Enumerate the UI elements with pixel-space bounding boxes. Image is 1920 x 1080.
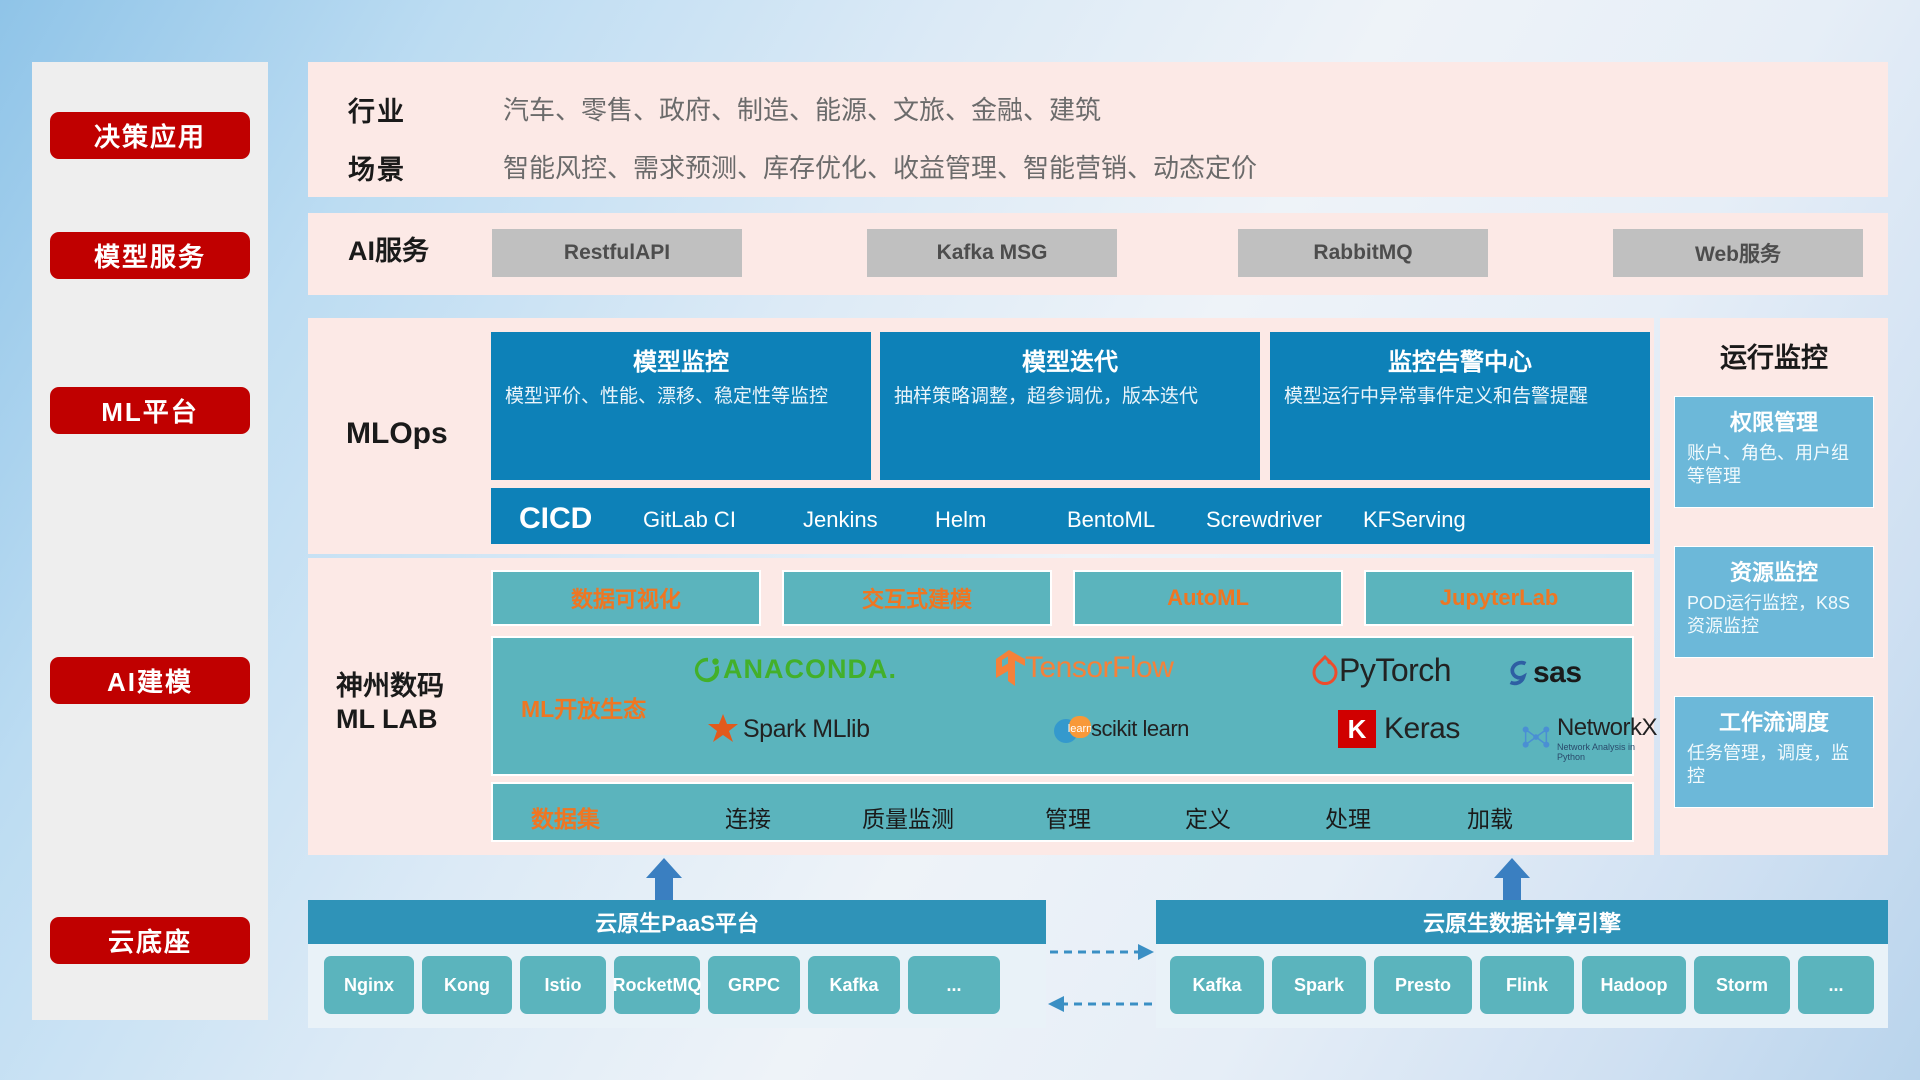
monitor-card-title: 资源监控 xyxy=(1687,555,1861,587)
ml-lab-label-line2: ML LAB xyxy=(336,704,438,734)
industry-key: 行业 xyxy=(348,90,406,129)
ml-lab-label-line1: 神州数码 xyxy=(336,671,444,701)
tensorflow-icon xyxy=(993,650,1025,686)
ai-modeling-band: 神州数码 ML LAB 数据可视化 交互式建模 AutoML JupyterLa… xyxy=(308,558,1654,855)
engine-chip-kafka[interactable]: Kafka xyxy=(1170,956,1264,1014)
mlops-card-title: 模型监控 xyxy=(505,342,857,377)
mlops-card-desc: 抽样策略调整，超参调优，版本迭代 xyxy=(894,384,1246,409)
networkx-logo: NetworkX Network Analysis in Python xyxy=(1520,714,1659,762)
monitor-card-title: 权限管理 xyxy=(1687,405,1861,437)
sas-logo: sas xyxy=(1503,656,1582,690)
scikit-learn-logo: learn scikit learn xyxy=(1053,712,1189,746)
pytorch-icon xyxy=(1311,655,1339,687)
industry-value: 汽车、零售、政府、制造、能源、文旅、金融、建筑 xyxy=(503,90,1101,127)
bidirectional-connector-icon xyxy=(1046,930,1156,1020)
ml-lab-label: 神州数码 ML LAB xyxy=(336,670,444,736)
data-engine-title: 云原生数据计算引擎 xyxy=(1156,900,1888,944)
cicd-item-kfserving[interactable]: KFServing xyxy=(1363,506,1481,534)
engine-chip-hadoop[interactable]: Hadoop xyxy=(1582,956,1686,1014)
tensorflow-wordmark: TensorFlow xyxy=(1025,651,1173,685)
cicd-strip: CICD GitLab CI Jenkins Helm BentoML Scre… xyxy=(491,488,1650,544)
paas-chip-kafka[interactable]: Kafka xyxy=(808,956,900,1014)
keras-logo: K Keras xyxy=(1338,710,1460,748)
cicd-item-bentoml[interactable]: BentoML xyxy=(1067,506,1185,534)
dataset-item-connect[interactable]: 连接 xyxy=(693,800,803,834)
cicd-item-jenkins[interactable]: Jenkins xyxy=(803,506,921,534)
networkx-subtitle: Network Analysis in Python xyxy=(1557,742,1659,762)
monitor-card-title: 工作流调度 xyxy=(1687,705,1861,737)
monitor-card-desc: 任务管理，调度，监控 xyxy=(1687,742,1861,789)
anaconda-logo: ANACONDA. xyxy=(693,654,897,685)
keras-wordmark: Keras xyxy=(1384,712,1460,746)
mlops-card-title: 模型迭代 xyxy=(894,342,1246,377)
mlops-card-title: 监控告警中心 xyxy=(1284,342,1636,377)
monitor-card-desc: POD运行监控，K8S资源监控 xyxy=(1687,592,1861,639)
ai-service-band: AI服务 RestfulAPI Kafka MSG RabbitMQ Web服务 xyxy=(308,213,1888,295)
rail-item-ml-platform[interactable]: ML平台 xyxy=(50,387,250,434)
service-chip-rabbitmq[interactable]: RabbitMQ xyxy=(1238,229,1488,277)
mlops-card-desc: 模型运行中异常事件定义和告警提醒 xyxy=(1284,384,1636,409)
mlops-card-model-monitoring[interactable]: 模型监控 模型评价、性能、漂移、稳定性等监控 xyxy=(491,332,871,480)
tensorflow-logo: TensorFlow xyxy=(993,650,1173,686)
spark-icon xyxy=(703,712,743,746)
tile-data-visualization[interactable]: 数据可视化 xyxy=(491,570,761,626)
engine-chip-presto[interactable]: Presto xyxy=(1374,956,1472,1014)
tile-automl[interactable]: AutoML xyxy=(1073,570,1343,626)
mlops-label: MLOps xyxy=(346,416,448,453)
ml-ecosystem-label: ML开放生态 xyxy=(521,690,646,724)
paas-chip-kong[interactable]: Kong xyxy=(422,956,512,1014)
paas-chip-more[interactable]: ... xyxy=(908,956,1000,1014)
dataset-item-quality-monitoring[interactable]: 质量监测 xyxy=(833,800,983,834)
ml-ecosystem-panel: ML开放生态 ANACONDA. TensorFlow xyxy=(491,636,1634,776)
rail-item-model-service[interactable]: 模型服务 xyxy=(50,232,250,279)
monitor-card-desc: 账户、角色、用户组等管理 xyxy=(1687,442,1861,489)
pytorch-wordmark: PyTorch xyxy=(1339,652,1451,689)
dataset-strip: 数据集 连接 质量监测 管理 定义 处理 加载 xyxy=(491,782,1634,842)
mlops-card-model-iteration[interactable]: 模型迭代 抽样策略调整，超参调优，版本迭代 xyxy=(880,332,1260,480)
cicd-item-helm[interactable]: Helm xyxy=(935,506,1053,534)
rail-item-ai-modeling[interactable]: AI建模 xyxy=(50,657,250,704)
paas-chip-istio[interactable]: Istio xyxy=(520,956,606,1014)
run-monitor-panel: 运行监控 权限管理 账户、角色、用户组等管理 资源监控 POD运行监控，K8S资… xyxy=(1660,318,1888,855)
mlops-card-desc: 模型评价、性能、漂移、稳定性等监控 xyxy=(505,384,857,409)
scenario-value: 智能风控、需求预测、库存优化、收益管理、智能营销、动态定价 xyxy=(503,148,1257,185)
run-monitor-title: 运行监控 xyxy=(1660,336,1888,375)
sas-wordmark: sas xyxy=(1533,656,1582,690)
paas-platform-group: 云原生PaaS平台 Nginx Kong Istio RocketMQ GRPC… xyxy=(308,900,1046,1028)
tile-interactive-modeling[interactable]: 交互式建模 xyxy=(782,570,1052,626)
monitor-card-permission[interactable]: 权限管理 账户、角色、用户组等管理 xyxy=(1674,396,1874,508)
tile-jupyterlab[interactable]: JupyterLab xyxy=(1364,570,1634,626)
spark-mllib-logo: Spark MLlib xyxy=(703,712,870,746)
keras-icon: K xyxy=(1338,710,1376,748)
cicd-item-screwdriver[interactable]: Screwdriver xyxy=(1206,506,1324,534)
monitor-card-resource[interactable]: 资源监控 POD运行监控，K8S资源监控 xyxy=(1674,546,1874,658)
anaconda-wordmark: ANACONDA. xyxy=(723,654,897,685)
scikit-learn-wordmark: scikit learn xyxy=(1091,716,1189,742)
cicd-item-gitlab-ci[interactable]: GitLab CI xyxy=(643,506,761,534)
engine-chip-more[interactable]: ... xyxy=(1798,956,1874,1014)
mlops-band: MLOps 模型监控 模型评价、性能、漂移、稳定性等监控 模型迭代 抽样策略调整… xyxy=(308,318,1654,554)
left-rail: 决策应用 模型服务 ML平台 AI建模 云底座 xyxy=(32,62,268,1020)
paas-chip-nginx[interactable]: Nginx xyxy=(324,956,414,1014)
paas-platform-title: 云原生PaaS平台 xyxy=(308,900,1046,944)
paas-chip-grpc[interactable]: GRPC xyxy=(708,956,800,1014)
pytorch-logo: PyTorch xyxy=(1311,652,1451,689)
dataset-item-management[interactable]: 管理 xyxy=(1013,800,1123,834)
service-chip-web-service[interactable]: Web服务 xyxy=(1613,229,1863,277)
spark-mllib-wordmark: Spark MLlib xyxy=(743,715,870,744)
engine-chip-spark[interactable]: Spark xyxy=(1272,956,1366,1014)
networkx-wordmark: NetworkX xyxy=(1557,714,1659,742)
paas-up-arrow-icon xyxy=(640,856,688,904)
networkx-icon xyxy=(1520,723,1552,753)
engine-chip-storm[interactable]: Storm xyxy=(1694,956,1790,1014)
anaconda-icon xyxy=(693,655,723,685)
dataset-label: 数据集 xyxy=(531,800,600,834)
data-engine-up-arrow-icon xyxy=(1488,856,1536,904)
cicd-title: CICD xyxy=(519,502,592,536)
dataset-item-definition[interactable]: 定义 xyxy=(1153,800,1263,834)
service-chip-kafka-msg[interactable]: Kafka MSG xyxy=(867,229,1117,277)
svg-text:learn: learn xyxy=(1068,723,1091,735)
paas-chip-rocketmq[interactable]: RocketMQ xyxy=(614,956,700,1014)
dataset-item-loading[interactable]: 加载 xyxy=(1435,800,1545,834)
sas-icon xyxy=(1503,658,1533,688)
decision-application-band: 行业 汽车、零售、政府、制造、能源、文旅、金融、建筑 场景 智能风控、需求预测、… xyxy=(308,62,1888,197)
scenario-key: 场景 xyxy=(348,148,406,187)
ai-service-label: AI服务 xyxy=(348,235,429,268)
monitor-card-workflow[interactable]: 工作流调度 任务管理，调度，监控 xyxy=(1674,696,1874,808)
data-engine-group: 云原生数据计算引擎 Kafka Spark Presto Flink Hadoo… xyxy=(1156,900,1888,1028)
mlops-card-alert-center[interactable]: 监控告警中心 模型运行中异常事件定义和告警提醒 xyxy=(1270,332,1650,480)
service-chip-restfulapi[interactable]: RestfulAPI xyxy=(492,229,742,277)
rail-item-cloud-base[interactable]: 云底座 xyxy=(50,917,250,964)
dataset-item-processing[interactable]: 处理 xyxy=(1293,800,1403,834)
scikit-icon: learn xyxy=(1053,712,1091,746)
rail-item-decision-app[interactable]: 决策应用 xyxy=(50,112,250,159)
engine-chip-flink[interactable]: Flink xyxy=(1480,956,1574,1014)
